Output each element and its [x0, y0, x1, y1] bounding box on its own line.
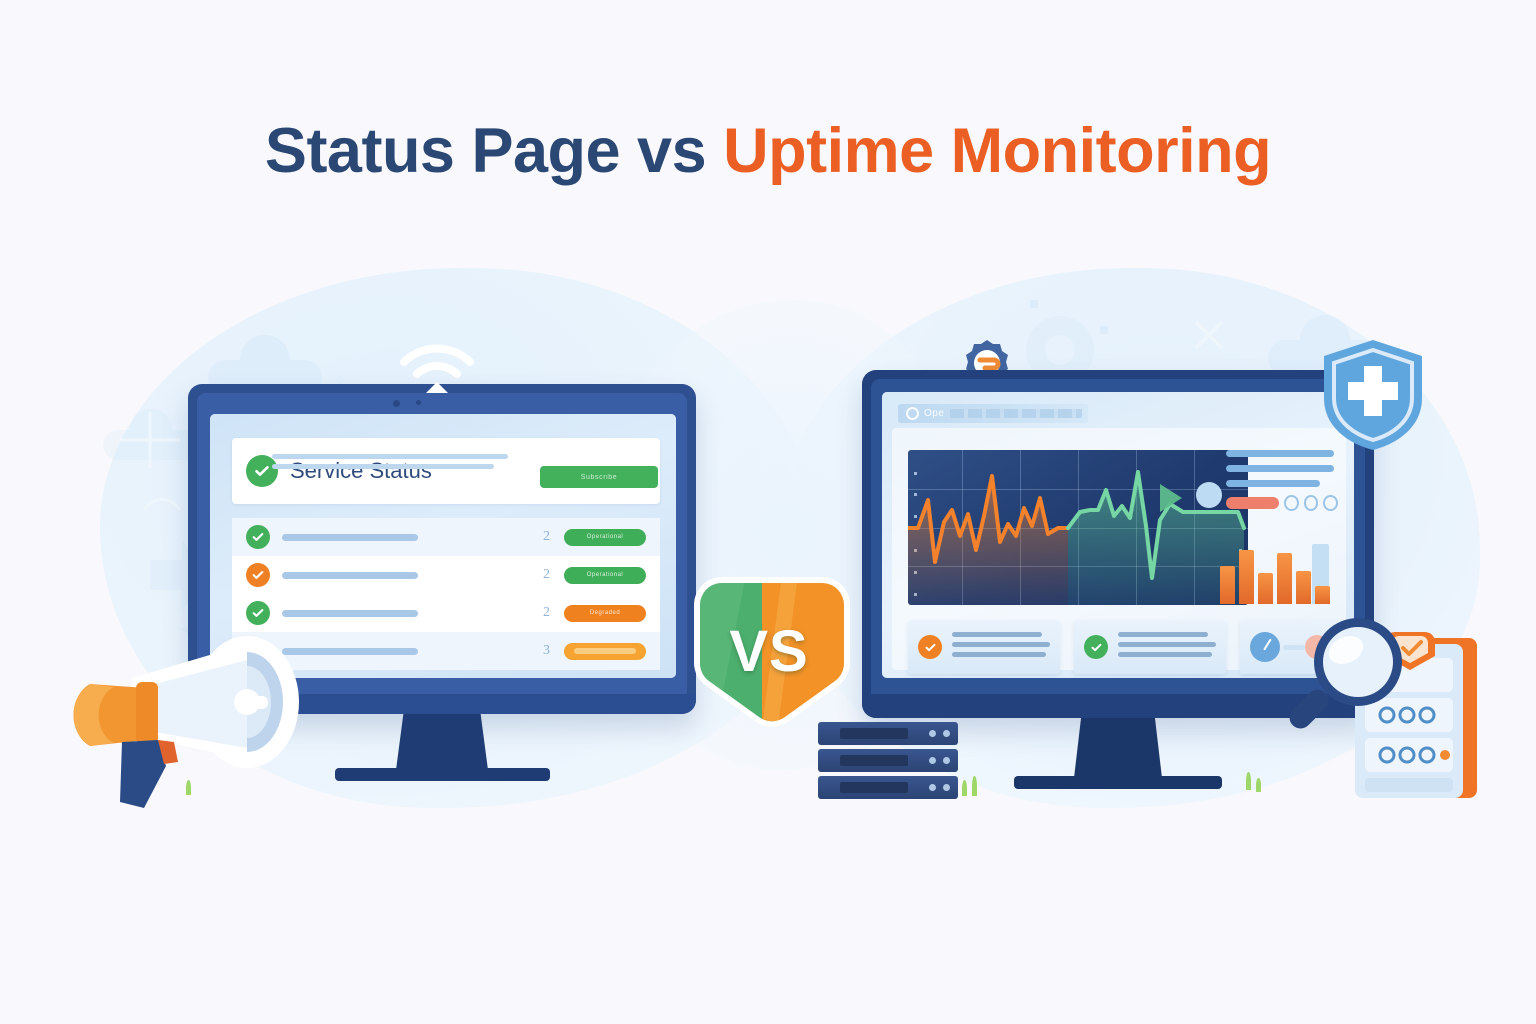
shield-cross-icon — [1318, 336, 1428, 454]
status-badge: Degraded — [564, 605, 646, 622]
check-circle-orange-icon — [246, 563, 270, 587]
row-count: 2 — [543, 567, 550, 583]
title-part-uptime-monitoring: Uptime Monitoring — [723, 116, 1271, 186]
grass-decoration — [972, 776, 977, 796]
table-row[interactable]: 2 Degraded — [232, 594, 660, 632]
status-badge: Operational — [564, 529, 646, 546]
circle-icon — [1304, 495, 1319, 511]
page-title: Status Page vs Uptime Monitoring — [0, 118, 1536, 184]
metrics-bar-chart — [1220, 540, 1342, 604]
subscribe-button-label: Subscribe — [581, 474, 618, 481]
row-count: 2 — [543, 529, 550, 545]
circle-icon — [906, 407, 919, 420]
row-label-bar — [282, 572, 418, 579]
webcam-icon — [393, 400, 400, 407]
row-label-bar — [282, 610, 418, 617]
server-stack-icon — [818, 722, 970, 806]
circle-icon — [1284, 495, 1299, 511]
grass-decoration — [962, 780, 967, 796]
monitor-stand-neck — [1074, 718, 1162, 778]
webcam-led-icon — [416, 400, 421, 405]
list-item[interactable] — [1074, 620, 1226, 674]
status-badge-label: Operational — [587, 572, 624, 578]
row-label-bar — [282, 534, 418, 541]
status-badge: Operational — [564, 567, 646, 584]
subscribe-button[interactable]: Subscribe — [540, 466, 658, 488]
title-part-status-page: Status Page vs — [265, 116, 706, 186]
search-input[interactable]: Ope — [898, 404, 1088, 423]
check-circle-green-icon — [1084, 635, 1108, 659]
check-circle-orange-icon — [918, 635, 942, 659]
list-item[interactable] — [908, 620, 1060, 674]
monitor-stand-foot — [1014, 776, 1222, 789]
vs-badge: VS — [686, 575, 852, 727]
row-count: 2 — [543, 605, 550, 621]
alert-pill — [1226, 497, 1279, 509]
monitor-stand-foot — [335, 768, 550, 781]
search-input-text: Ope — [924, 408, 944, 419]
status-badge-label: Degraded — [590, 610, 620, 616]
vs-badge-label: VS — [686, 575, 852, 727]
dashboard-sidebar — [1226, 450, 1338, 511]
gauge-icon — [1250, 632, 1280, 662]
circle-icon — [1323, 495, 1338, 511]
grass-decoration — [1246, 772, 1251, 790]
check-circle-green-icon — [246, 525, 270, 549]
monitor-stand-neck — [396, 714, 488, 770]
response-time-chart — [908, 450, 1248, 605]
indicator-dot — [1196, 482, 1222, 508]
illustration-canvas: Status Page vs Uptime Monitoring Service… — [0, 0, 1536, 1024]
row-count: 3 — [543, 643, 550, 659]
play-icon — [1160, 484, 1182, 512]
grass-decoration — [1256, 778, 1261, 792]
check-circle-green-icon — [246, 601, 270, 625]
wifi-icon — [394, 336, 480, 398]
table-row[interactable]: 2 Operational — [232, 556, 660, 594]
megaphone-icon — [62, 630, 322, 820]
status-badge-label: Operational — [587, 534, 624, 540]
grass-decoration — [186, 780, 191, 795]
magnifier-icon — [1280, 612, 1410, 747]
table-row[interactable]: 2 Operational — [232, 518, 660, 556]
header-placeholder-lines — [272, 454, 508, 474]
status-badge — [564, 643, 646, 660]
